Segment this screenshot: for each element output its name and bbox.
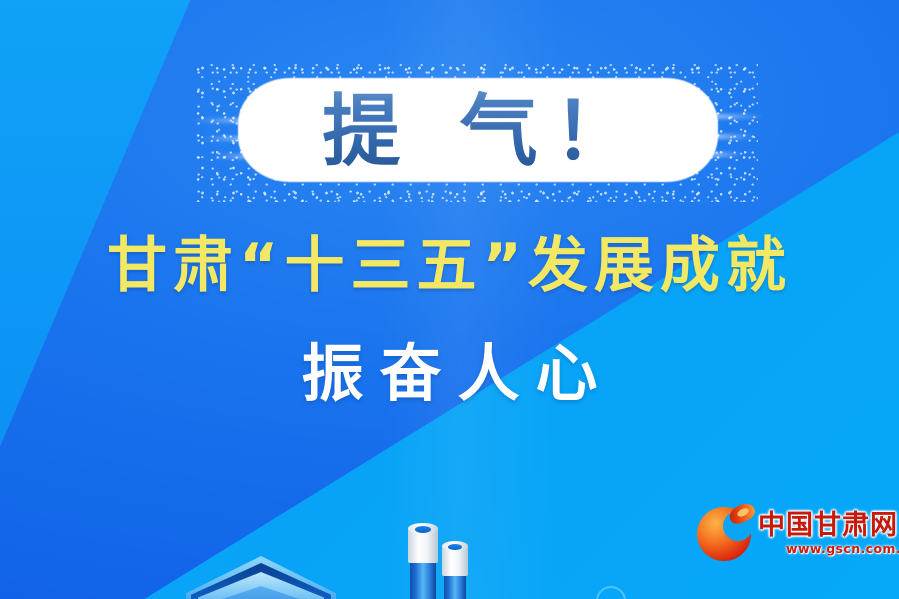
- pipe-bore: [415, 526, 431, 533]
- logo-site-url: www.gscn.com.cn: [786, 542, 899, 556]
- blue-pipe-tall-icon: [410, 527, 436, 599]
- pipe-bore: [448, 544, 462, 550]
- brush-banner: 提 气！: [196, 62, 758, 202]
- subtitle-line-2: 振奋人心: [0, 340, 899, 408]
- gansu-swirl-logo-icon: [697, 507, 751, 561]
- blue-pyramid-roof-icon: [186, 556, 336, 599]
- poster-canvas: 提 气！ 甘肃“十三五”发展成就 振奋人心 中国甘肃网 www.gscn.co: [0, 0, 899, 599]
- headline-title: 提 气！: [196, 62, 758, 202]
- logo-text-group: 中国甘肃网 www.gscn.com.cn: [758, 512, 899, 555]
- logo-site-name: 中国甘肃网: [758, 512, 899, 540]
- site-logo[interactable]: 中国甘肃网 www.gscn.com.cn: [697, 503, 885, 565]
- blue-pipe-short-icon: [444, 545, 466, 599]
- subtitle-line-1: 甘肃“十三五”发展成就: [0, 233, 899, 299]
